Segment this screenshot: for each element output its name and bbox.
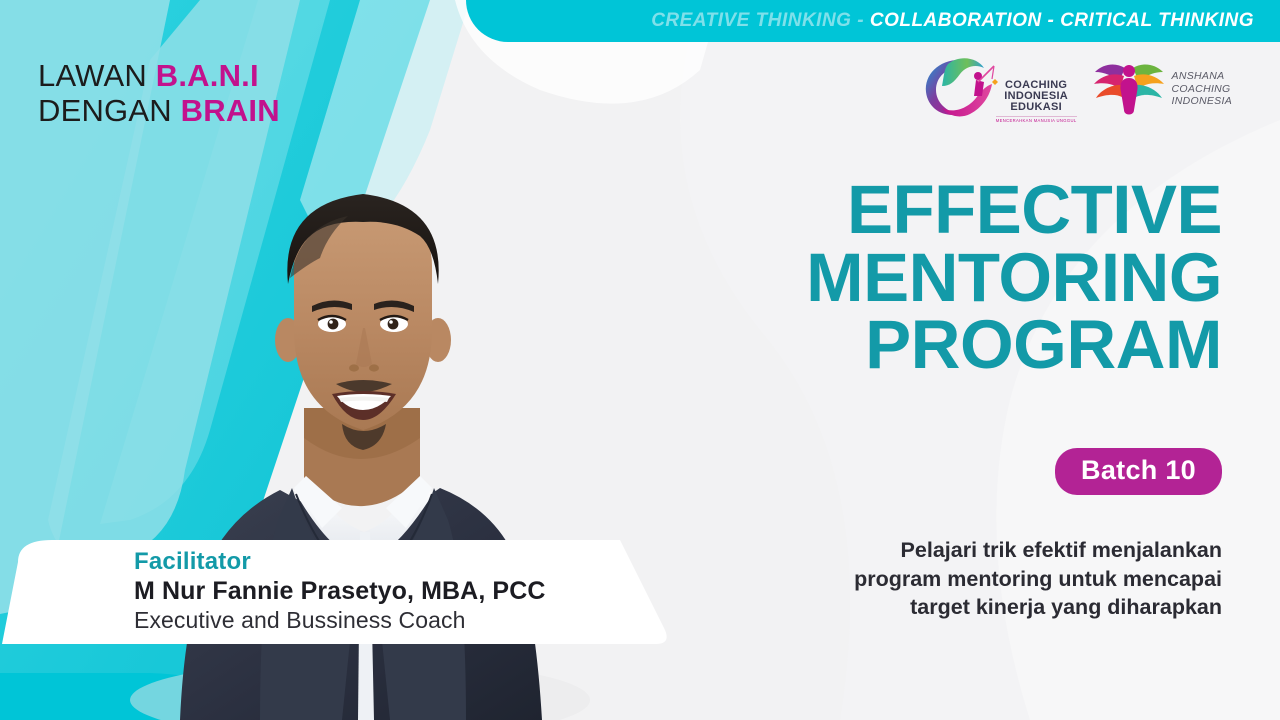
anshana-wings-figure-icon <box>1091 58 1167 120</box>
header-ribbon: CREATIVE THINKING - COLLABORATION - CRIT… <box>466 0 1280 42</box>
coaching-indonesia-mark-icon <box>920 52 998 126</box>
anshana-line-2: COACHING <box>1172 83 1232 95</box>
logo-group: COACHING INDONESIA EDUKASI MENCERAHKAN M… <box>920 52 1232 126</box>
ribbon-text-part1: CREATIVE THINKING - <box>651 10 870 31</box>
ribbon-text: CREATIVE THINKING - COLLABORATION - CRIT… <box>651 10 1254 32</box>
tagline: LAWAN B.A.N.I DENGAN BRAIN <box>38 58 280 128</box>
logo-coaching-indonesia-edukasi: COACHING INDONESIA EDUKASI MENCERAHKAN M… <box>920 52 1077 126</box>
page-title: EFFECTIVE MENTORING PROGRAM <box>602 176 1222 379</box>
anshana-line-1: ANSHANA <box>1172 70 1232 82</box>
status-badge: Batch 10 <box>1055 448 1222 495</box>
anshana-line-3: INDONESIA <box>1172 95 1232 107</box>
tagline-line-1: LAWAN B.A.N.I <box>38 58 280 93</box>
poster-canvas: CREATIVE THINKING - COLLABORATION - CRIT… <box>0 0 1280 720</box>
description: Pelajari trik efektif menjalankan progra… <box>762 536 1222 622</box>
coaching-indonesia-wordmark: COACHING INDONESIA EDUKASI MENCERAHKAN M… <box>996 80 1077 123</box>
facilitator-name: M Nur Fannie Prasetyo, MBA, PCC <box>134 577 546 606</box>
tagline-line-1-accent: B.A.N.I <box>156 58 259 93</box>
headline-line-3: PROGRAM <box>602 311 1222 379</box>
cie-tagline: MENCERAHKAN MANUSIA UNGGUL <box>996 116 1077 123</box>
tagline-line-2: DENGAN BRAIN <box>38 93 280 128</box>
anshana-wordmark: ANSHANA COACHING INDONESIA <box>1172 70 1232 107</box>
description-line-1: Pelajari trik efektif menjalankan <box>762 536 1222 565</box>
description-line-2: program mentoring untuk mencapai <box>762 565 1222 594</box>
description-line-3: target kinerja yang diharapkan <box>762 593 1222 622</box>
ribbon-text-part2: COLLABORATION - CRITICAL THINKING <box>870 10 1254 31</box>
tagline-line-2-plain: DENGAN <box>38 93 181 128</box>
cie-line-3: EDUKASI <box>1010 102 1062 113</box>
facilitator-info: Facilitator M Nur Fannie Prasetyo, MBA, … <box>134 548 546 634</box>
batch-badge-wrapper: Batch 10 <box>1055 448 1222 495</box>
headline-line-2: MENTORING <box>602 244 1222 312</box>
tagline-line-2-accent: BRAIN <box>181 93 280 128</box>
logo-anshana-coaching-indonesia: ANSHANA COACHING INDONESIA <box>1091 58 1232 120</box>
facilitator-role: Facilitator <box>134 548 546 576</box>
facilitator-title: Executive and Bussiness Coach <box>134 607 546 634</box>
headline-line-1: EFFECTIVE <box>602 176 1222 244</box>
tagline-line-1-plain: LAWAN <box>38 58 156 93</box>
